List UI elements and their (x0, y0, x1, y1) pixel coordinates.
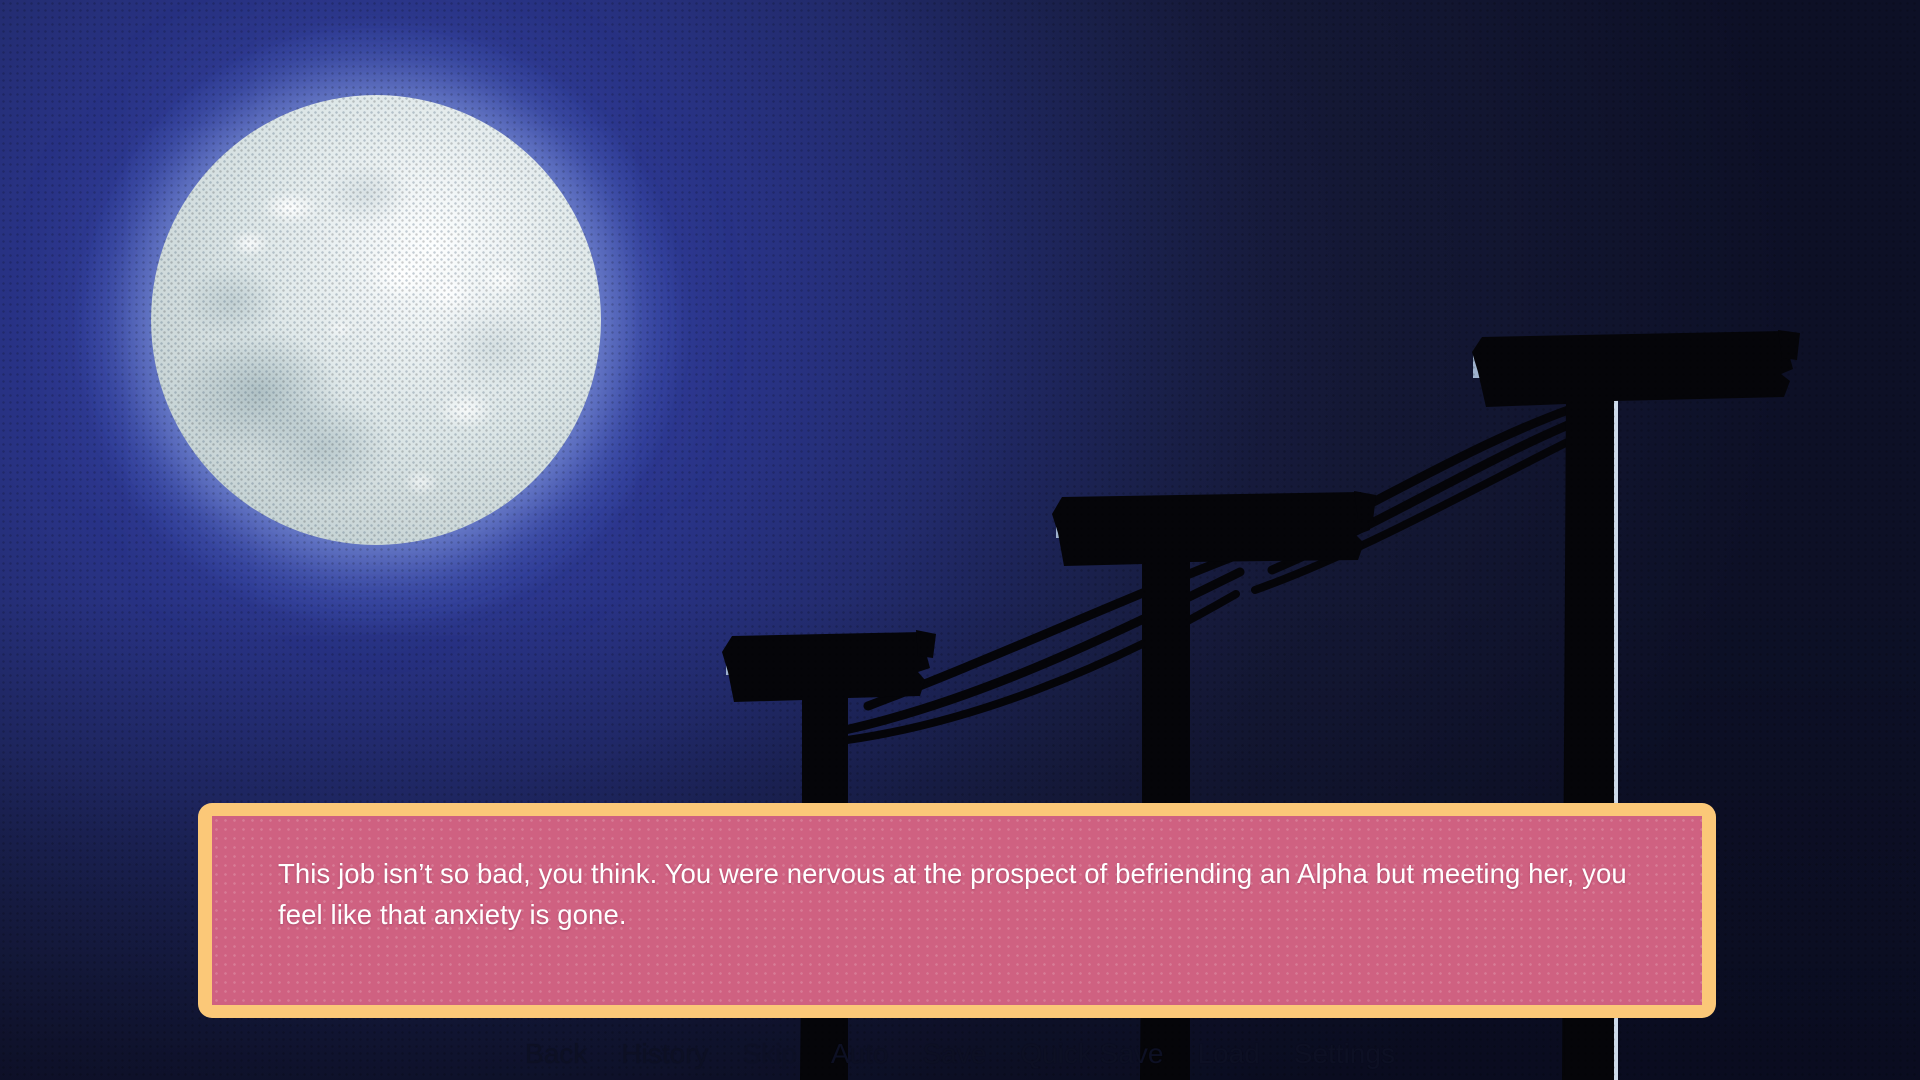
dialogue-textbox-inner: This job isn’t so bad, you think. You we… (212, 816, 1702, 1005)
menu-skip[interactable]: Skip (725, 1038, 813, 1070)
quick-menu: Back History Skip Auto Save Quick Save L… (0, 1038, 1920, 1070)
menu-quick-save[interactable]: Quick Save (1003, 1038, 1180, 1070)
menu-save[interactable]: Save (905, 1038, 1003, 1070)
menu-auto[interactable]: Auto (814, 1038, 906, 1070)
menu-settings[interactable]: Settings (1277, 1038, 1412, 1070)
dialogue-textbox[interactable]: This job isn’t so bad, you think. You we… (198, 803, 1716, 1018)
dialogue-text: This job isn’t so bad, you think. You we… (278, 853, 1662, 935)
menu-history[interactable]: History (604, 1038, 725, 1070)
menu-load[interactable]: Load (1180, 1038, 1276, 1070)
menu-back[interactable]: Back (508, 1038, 604, 1070)
game-screen: This job isn’t so bad, you think. You we… (0, 0, 1920, 1080)
